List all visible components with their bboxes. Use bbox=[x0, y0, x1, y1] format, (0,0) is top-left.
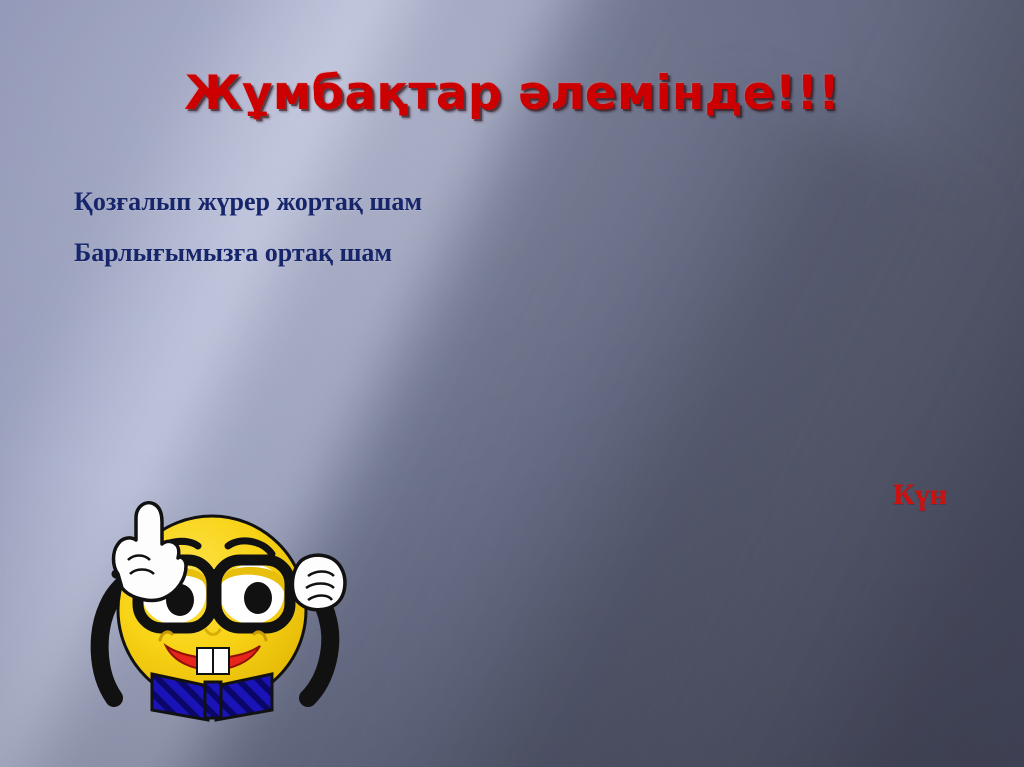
riddle-text-block: Қозғалып жүрер жортақ шам Барлығымызға о… bbox=[74, 189, 774, 291]
fist-hand-icon bbox=[292, 555, 345, 610]
pointing-hand-icon bbox=[114, 503, 187, 601]
riddle-answer-text: Күн bbox=[893, 478, 947, 512]
presentation-slide: Жұмбақтар әлемінде!!! Қозғалып жүрер жор… bbox=[0, 0, 1024, 767]
riddle-line-1: Қозғалып жүрер жортақ шам bbox=[74, 189, 774, 215]
nerd-smiley-icon bbox=[56, 482, 368, 722]
slide-title: Жұмбақтар әлемінде!!! bbox=[0, 66, 1024, 121]
bow-tie-icon bbox=[152, 674, 272, 720]
riddle-line-2: Барлығымызға ортақ шам bbox=[74, 240, 774, 266]
